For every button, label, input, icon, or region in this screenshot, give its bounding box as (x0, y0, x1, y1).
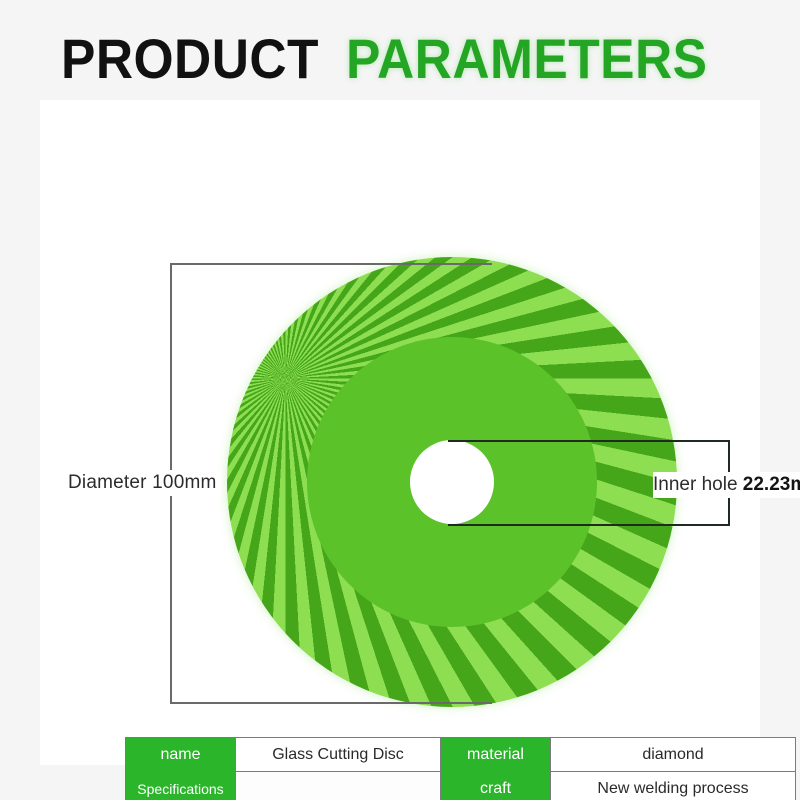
specification-table: nameGlass Cutting DiscmaterialdiamondSpe… (125, 737, 796, 800)
content-card: Diameter 100mm Inner hole 22.23mm nameGl… (40, 100, 760, 765)
page-title: PRODUCT PARAMETERS (0, 26, 800, 91)
table-cell: Glass Cutting Disc (236, 738, 441, 772)
page-title-primary: PRODUCT (61, 26, 319, 91)
page-title-accent: PARAMETERS (346, 26, 707, 91)
table-header-cell: material (441, 738, 551, 772)
table-row: nameGlass Cutting Discmaterialdiamond (126, 738, 796, 772)
table-header-cell: name (126, 738, 236, 772)
inner-hole-label: Inner hole 22.23mm (653, 472, 800, 498)
inner-hole-value: 22.23mm (743, 474, 800, 495)
table-header-cell: Specifications (126, 772, 236, 800)
inner-hole-label-text: Inner hole (653, 474, 738, 495)
table-cell: New welding process (551, 772, 796, 800)
table-row: SpecificationscraftNew welding process (126, 772, 796, 800)
table-cell-empty (236, 772, 441, 800)
product-parameters-infographic: PRODUCT PARAMETERS Diameter 100mm Inner … (0, 0, 800, 800)
diameter-label: Diameter 100mm (68, 470, 221, 496)
table-cell: diamond (551, 738, 796, 772)
specification-table-body: nameGlass Cutting DiscmaterialdiamondSpe… (126, 738, 796, 800)
table-header-cell: craft (441, 772, 551, 800)
